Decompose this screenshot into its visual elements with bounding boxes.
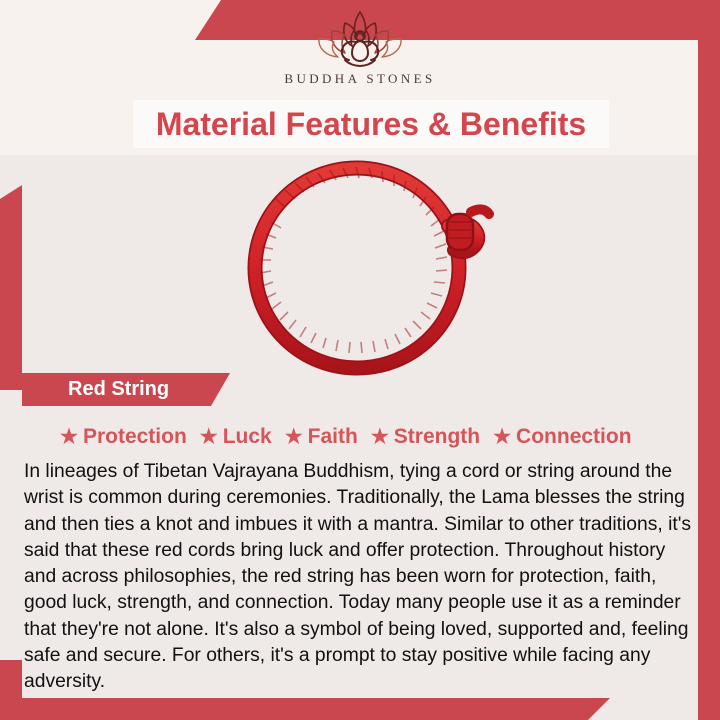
- feature-label: Protection: [83, 425, 187, 449]
- star-icon: ★: [371, 427, 389, 447]
- infographic-page: BUDDHA STONES Material Features & Benefi…: [0, 0, 720, 720]
- decor-band-bottom-left: [0, 660, 22, 720]
- feature-item: ★ Connection: [493, 425, 631, 449]
- decor-band-right: [698, 0, 720, 720]
- feature-label: Luck: [223, 425, 272, 449]
- product-image-red-string-bracelet: [215, 152, 515, 380]
- product-label: Red String: [68, 378, 169, 401]
- title-banner: Material Features & Benefits: [133, 100, 609, 148]
- feature-label: Strength: [394, 425, 480, 449]
- feature-list: ★ Protection ★ Luck ★ Faith ★ Strength ★…: [22, 420, 702, 454]
- feature-item: ★ Strength: [371, 425, 480, 449]
- feature-item: ★ Faith: [285, 425, 358, 449]
- brand-header: BUDDHA STONES: [0, 8, 720, 96]
- brand-name: BUDDHA STONES: [284, 71, 435, 87]
- description-text: In lineages of Tibetan Vajrayana Buddhis…: [24, 459, 692, 696]
- star-icon: ★: [285, 427, 303, 447]
- product-label-banner: Red String: [22, 373, 230, 406]
- lotus-meditation-icon: [306, 8, 414, 70]
- star-icon: ★: [200, 427, 218, 447]
- page-title: Material Features & Benefits: [156, 106, 586, 143]
- star-icon: ★: [493, 427, 511, 447]
- feature-label: Faith: [308, 425, 358, 449]
- decor-band-left: [0, 185, 22, 390]
- feature-item: ★ Luck: [200, 425, 272, 449]
- feature-label: Connection: [516, 425, 632, 449]
- star-icon: ★: [60, 427, 78, 447]
- feature-item: ★ Protection: [60, 425, 187, 449]
- decor-band-bottom: [0, 698, 610, 720]
